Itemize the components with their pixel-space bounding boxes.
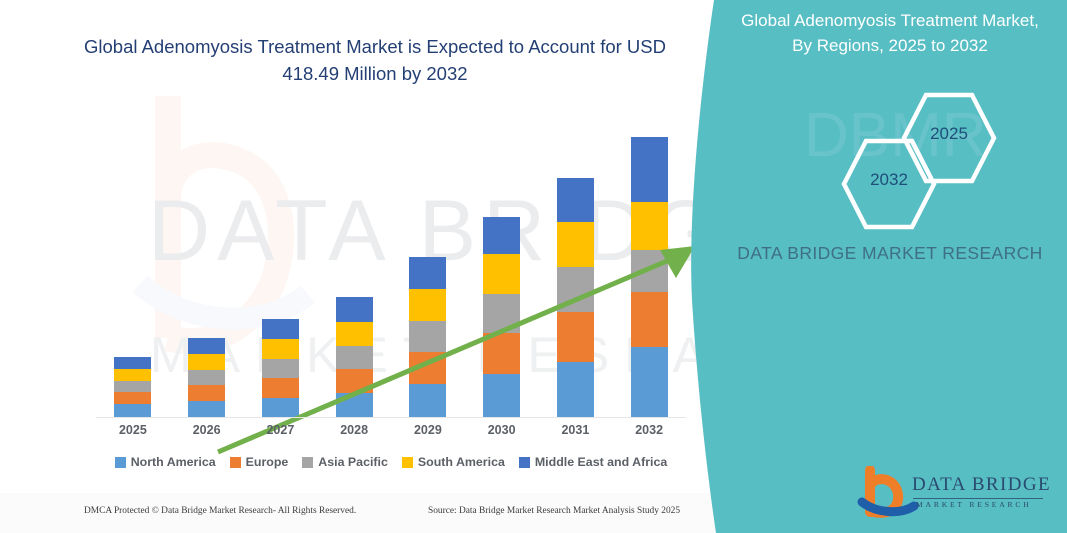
bar-segment [631,347,668,417]
brand-logo-rule [913,498,1043,499]
bar-segment [409,289,446,321]
bar-segment [483,374,520,417]
bar-slot [612,110,686,417]
stacked-bar[interactable] [188,338,225,417]
bar-slot [539,110,613,417]
bar-group [96,110,686,417]
x-axis-tick-label: 2032 [612,423,686,437]
hexagon-start-year-label: 2032 [840,170,938,190]
bar-segment [631,202,668,250]
bar-segment [336,297,373,322]
bar-segment [262,398,299,417]
bar-segment [631,137,668,202]
footer: DMCA Protected © Data Bridge Market Rese… [0,506,760,528]
x-axis-tick-label: 2031 [539,423,613,437]
brand-logo: DATA BRIDGE MARKET RESEARCH [856,466,1056,522]
bar-segment [631,292,668,347]
x-axis-tick-label: 2030 [465,423,539,437]
x-axis-line [96,417,686,418]
bar-segment [336,369,373,393]
bar-slot [96,110,170,417]
chart-legend: North AmericaEuropeAsia PacificSouth Ame… [96,455,686,469]
brand-logo-name: DATA BRIDGE [912,474,1051,496]
bar-segment [262,359,299,378]
bar-segment [409,257,446,289]
chart-panel: DATA BRIDGE MARKET RESEARCH Global Adeno… [0,0,760,533]
year-hexagons: 2025 2032 [712,88,1067,208]
bar-segment [557,267,594,312]
bar-slot [391,110,465,417]
panel-title: Global Adenomyosis Treatment Market, By … [730,8,1050,58]
stacked-bar[interactable] [631,137,668,417]
legend-item[interactable]: Europe [230,455,289,469]
legend-label: Middle East and Africa [535,455,667,469]
legend-label: Europe [246,455,289,469]
legend-swatch-icon [230,457,241,468]
bar-segment [483,333,520,374]
bar-segment [557,362,594,417]
bar-segment [262,319,299,339]
bar-segment [409,384,446,417]
bar-segment [409,321,446,352]
x-axis-labels: 20252026202720282029203020312032 [96,423,686,437]
bar-segment [114,392,151,404]
bar-segment [557,178,594,222]
legend-label: South America [418,455,505,469]
x-axis-tick-label: 2027 [244,423,318,437]
regions-panel: DBMR Global Adenomyosis Treatment Market… [712,0,1067,533]
legend-item[interactable]: Middle East and Africa [519,455,667,469]
bar-segment [114,404,151,417]
brand-logo-tagline: MARKET RESEARCH [916,500,1032,509]
x-axis-tick-label: 2025 [96,423,170,437]
footer-copyright: DMCA Protected © Data Bridge Market Rese… [84,506,356,516]
bar-slot [317,110,391,417]
bar-segment [336,346,373,369]
legend-item[interactable]: Asia Pacific [302,455,388,469]
bar-segment [483,217,520,254]
bar-segment [557,312,594,362]
panel-brand-text: DATA BRIDGE MARKET RESEARCH [730,240,1050,267]
stacked-bar[interactable] [114,357,151,417]
bar-segment [483,294,520,333]
legend-item[interactable]: North America [115,455,216,469]
stacked-bar[interactable] [409,257,446,417]
bar-segment [114,381,151,392]
stacked-bar-chart [96,110,686,417]
legend-swatch-icon [115,457,126,468]
bar-segment [114,369,151,381]
legend-item[interactable]: South America [402,455,505,469]
bar-segment [262,339,299,359]
bar-segment [336,393,373,417]
x-axis-tick-label: 2028 [317,423,391,437]
bar-segment [114,357,151,369]
bar-slot [244,110,318,417]
legend-swatch-icon [302,457,313,468]
legend-label: Asia Pacific [318,455,388,469]
page-title: Global Adenomyosis Treatment Market is E… [60,33,690,87]
bar-segment [409,352,446,384]
legend-label: North America [131,455,216,469]
bar-segment [262,378,299,398]
bar-segment [188,401,225,417]
legend-swatch-icon [402,457,413,468]
bar-segment [631,250,668,292]
stacked-bar[interactable] [336,297,373,417]
bar-slot [170,110,244,417]
infographic-slide: DATA BRIDGE MARKET RESEARCH Global Adeno… [0,0,1067,533]
footer-source: Source: Data Bridge Market Research Mark… [428,506,680,516]
x-axis-tick-label: 2026 [170,423,244,437]
x-axis-tick-label: 2029 [391,423,465,437]
bar-segment [188,354,225,370]
stacked-bar[interactable] [262,319,299,417]
bar-segment [336,322,373,346]
bar-segment [188,370,225,385]
legend-swatch-icon [519,457,530,468]
bar-segment [188,385,225,401]
stacked-bar[interactable] [557,178,594,417]
bar-segment [557,222,594,267]
stacked-bar[interactable] [483,217,520,417]
bar-slot [465,110,539,417]
bar-segment [188,338,225,354]
bar-segment [483,254,520,294]
